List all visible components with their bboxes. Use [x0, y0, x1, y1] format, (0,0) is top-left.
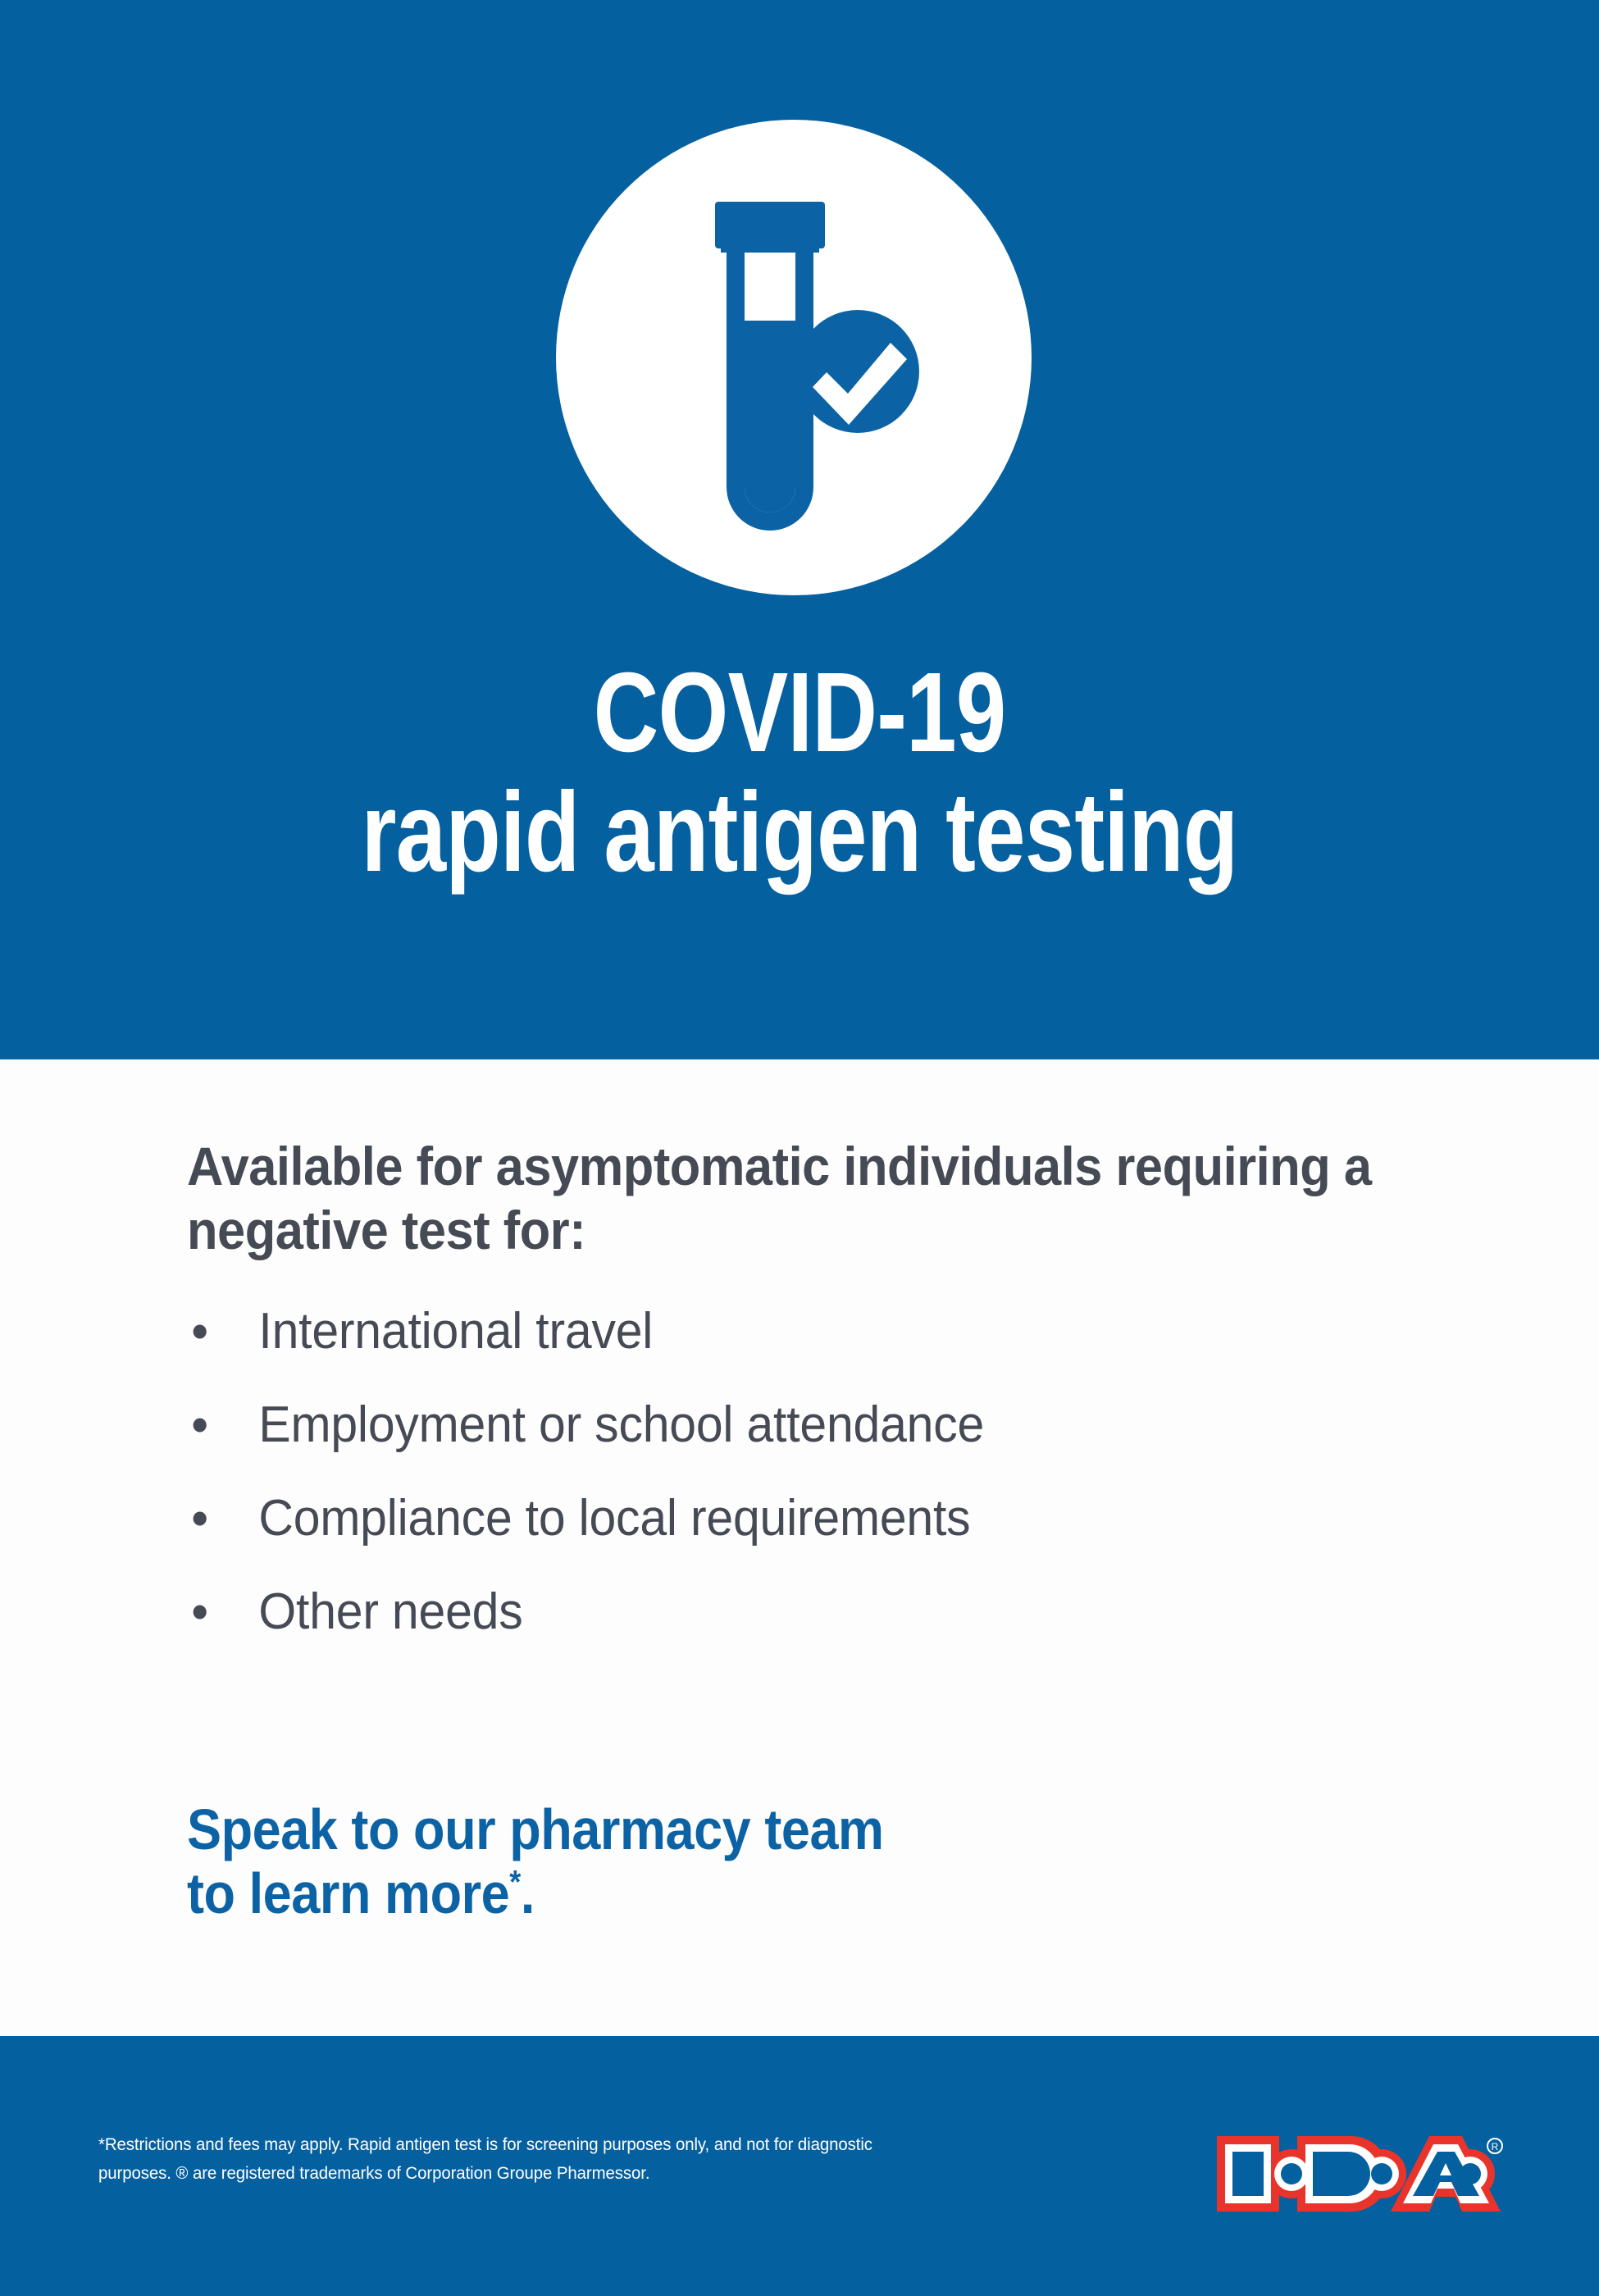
cta-line-2: to learn more*.	[187, 1861, 1294, 1925]
bullet-dot-icon	[194, 1511, 207, 1525]
list-item-label: Other needs	[258, 1583, 522, 1640]
cta-line-2-text: to learn more	[187, 1861, 509, 1925]
list-item-label: Compliance to local requirements	[258, 1490, 970, 1547]
cta-period: .	[521, 1861, 535, 1925]
bullet-dot-icon	[194, 1418, 207, 1432]
ida-pharmacy-logo: R	[1212, 2130, 1507, 2218]
cta-asterisk: *	[509, 1865, 521, 1901]
header-band: COVID-19 rapid antigen testing	[0, 0, 1599, 1059]
list-item: Compliance to local requirements	[187, 1492, 1433, 1545]
cta-line-1: Speak to our pharmacy team	[187, 1797, 1294, 1861]
call-to-action: Speak to our pharmacy team to learn more…	[187, 1797, 1294, 1926]
list-item: Other needs	[187, 1586, 1433, 1638]
bullet-dot-icon	[194, 1324, 207, 1338]
registered-trademark-icon: R	[1487, 2139, 1502, 2153]
svg-text:R: R	[1492, 2141, 1499, 2152]
list-item-label: Employment or school attendance	[258, 1396, 984, 1453]
title-line-covid: COVID-19	[160, 656, 1439, 769]
poster-title: COVID-19 rapid antigen testing	[0, 656, 1599, 896]
test-tube-check-icon	[556, 120, 1032, 595]
list-item: International travel	[187, 1305, 1433, 1358]
title-line-rapid-antigen: rapid antigen testing	[160, 769, 1439, 896]
list-item: Employment or school attendance	[187, 1399, 1433, 1451]
body-area: Available for asymptomatic individuals r…	[0, 1059, 1599, 2036]
legal-disclaimer: *Restrictions and fees may apply. Rapid …	[98, 2130, 893, 2188]
poster-root: COVID-19 rapid antigen testing Available…	[0, 0, 1599, 2296]
eligibility-bullet-list: International travel Employment or schoo…	[187, 1305, 1499, 1679]
list-item-label: International travel	[258, 1303, 653, 1360]
lead-heading: Available for asymptomatic individuals r…	[187, 1135, 1407, 1263]
bullet-dot-icon	[194, 1605, 207, 1619]
